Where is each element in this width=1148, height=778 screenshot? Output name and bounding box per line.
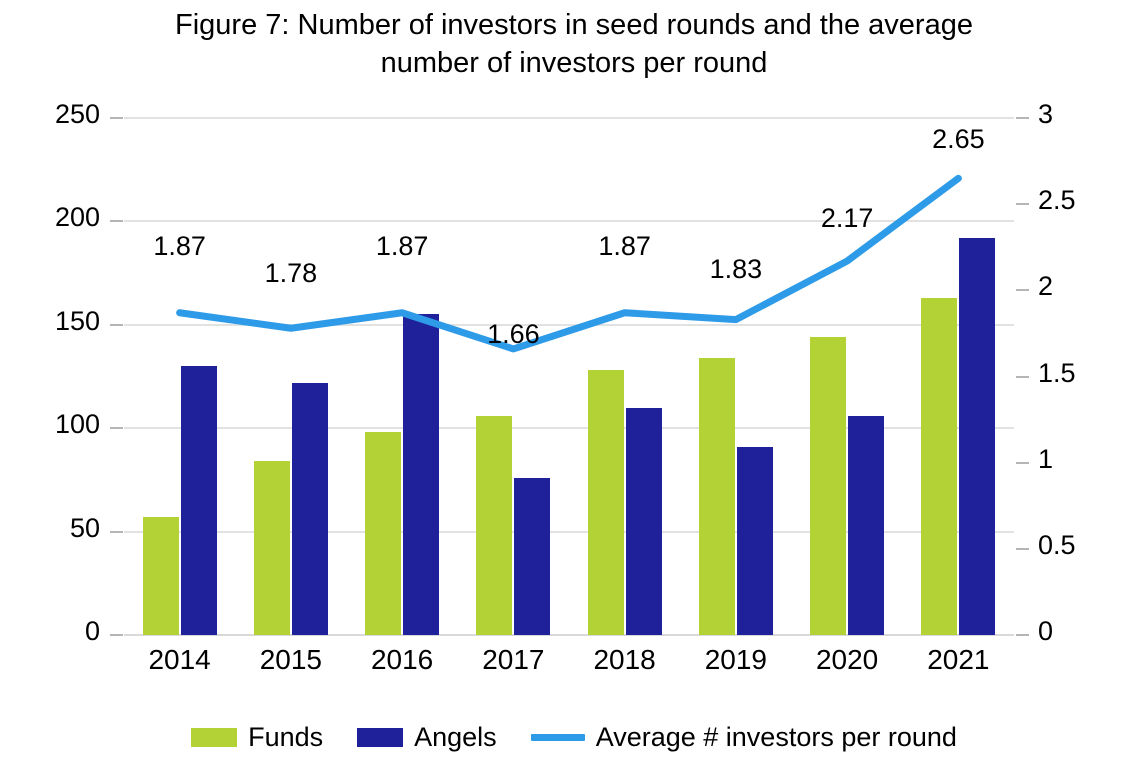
- legend-item-label: Average # investors per round: [596, 722, 957, 753]
- y-axis-tick-left: 0: [16, 616, 100, 647]
- y-axis-tick-mark-right: [1016, 634, 1029, 636]
- y-axis-tick-right: 1.5: [1038, 358, 1108, 389]
- y-axis-tick-mark-left: [110, 324, 123, 326]
- chart-legend: FundsAngelsAverage # investors per round: [0, 722, 1148, 753]
- average-investors-line: [124, 118, 1014, 635]
- y-axis-tick-mark-right: [1016, 203, 1029, 205]
- y-axis-tick-right: 2: [1038, 271, 1108, 302]
- plot-area: 05010015020025000.511.522.531.871.781.87…: [124, 118, 1014, 635]
- y-axis-tick-mark-left: [110, 220, 123, 222]
- chart-title-line-2: number of investors per round: [0, 44, 1148, 82]
- y-axis-tick-right: 0: [1038, 616, 1108, 647]
- line-point-label: 1.87: [565, 231, 685, 262]
- y-axis-tick-right: 1: [1038, 444, 1108, 475]
- x-axis-tick: 2019: [676, 644, 796, 676]
- y-axis-tick-left: 100: [16, 409, 100, 440]
- green-square-swatch: [191, 728, 237, 747]
- y-axis-tick-mark-right: [1016, 289, 1029, 291]
- line-point-label: 2.65: [898, 124, 1018, 155]
- y-axis-tick-right: 2.5: [1038, 185, 1108, 216]
- y-axis-tick-left: 250: [16, 99, 100, 130]
- line-point-label: 1.87: [342, 231, 462, 262]
- figure-7-chart: Figure 7: Number of investors in seed ro…: [0, 0, 1148, 778]
- y-axis-tick-mark-left: [110, 531, 123, 533]
- y-axis-tick-left: 50: [16, 513, 100, 544]
- chart-title: Figure 7: Number of investors in seed ro…: [0, 6, 1148, 82]
- y-axis-tick-mark-left: [110, 634, 123, 636]
- y-axis-tick-right: 3: [1038, 99, 1108, 130]
- legend-item[interactable]: Funds: [191, 722, 323, 753]
- blue-square-swatch: [357, 728, 403, 747]
- y-axis-tick-mark-left: [110, 427, 123, 429]
- line-point-label: 1.87: [120, 231, 240, 262]
- x-axis-tick: 2015: [231, 644, 351, 676]
- y-axis-tick-mark-right: [1016, 117, 1029, 119]
- x-axis-tick: 2016: [342, 644, 462, 676]
- x-axis-tick: 2014: [120, 644, 240, 676]
- x-axis-tick: 2020: [787, 644, 907, 676]
- y-axis-tick-left: 150: [16, 306, 100, 337]
- x-axis-tick: 2017: [453, 644, 573, 676]
- legend-item-label: Angels: [414, 722, 497, 753]
- y-axis-tick-left: 200: [16, 202, 100, 233]
- y-axis-tick-mark-left: [110, 117, 123, 119]
- legend-item[interactable]: Angels: [357, 722, 497, 753]
- legend-item-label: Funds: [248, 722, 323, 753]
- line-point-label: 1.83: [676, 254, 796, 285]
- blue-line-swatch: [531, 734, 585, 741]
- legend-item[interactable]: Average # investors per round: [531, 722, 957, 753]
- y-axis-tick-mark-right: [1016, 376, 1029, 378]
- line-point-label: 2.17: [787, 203, 907, 234]
- x-axis-tick: 2021: [898, 644, 1018, 676]
- line-point-label: 1.66: [453, 319, 573, 350]
- x-axis-tick: 2018: [565, 644, 685, 676]
- y-axis-tick-mark-right: [1016, 548, 1029, 550]
- y-axis-tick-mark-right: [1016, 462, 1029, 464]
- chart-title-line-1: Figure 7: Number of investors in seed ro…: [0, 6, 1148, 44]
- line-point-label: 1.78: [231, 258, 351, 289]
- y-axis-tick-right: 0.5: [1038, 530, 1108, 561]
